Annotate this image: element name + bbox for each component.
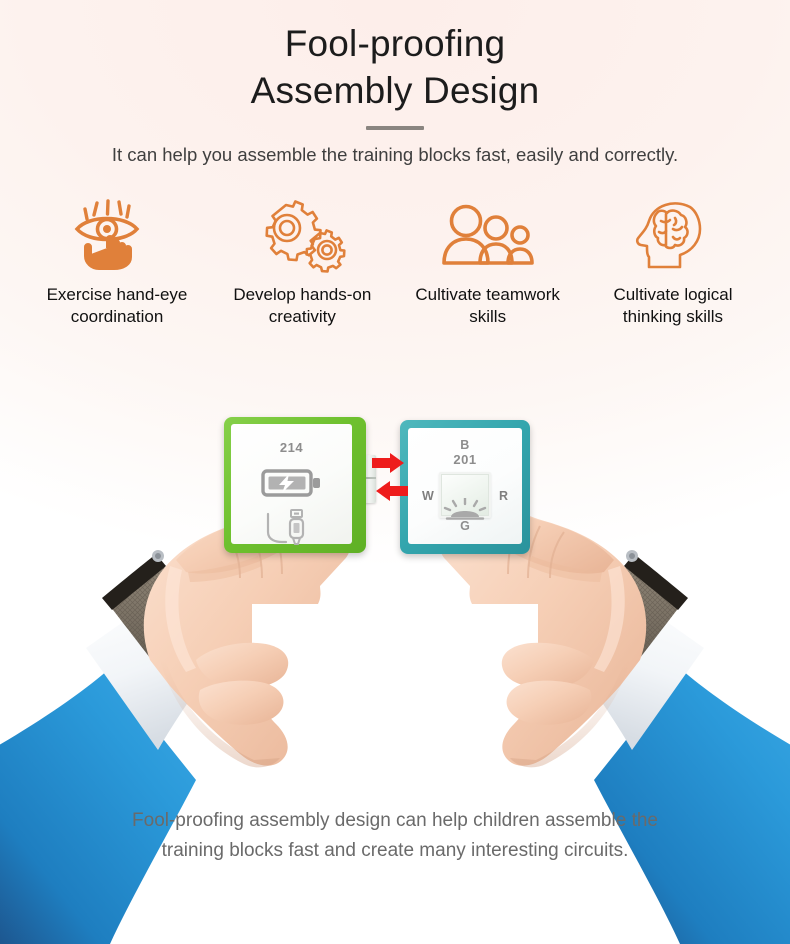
- led-block-code-number: 201: [408, 452, 522, 467]
- feature-label: Cultivate logical thinking skills: [582, 284, 764, 328]
- led-block-face: B 201 W R G: [408, 428, 522, 544]
- subtitle: It can help you assemble the training bl…: [0, 142, 790, 167]
- hands-illustration: [0, 360, 790, 820]
- led-block-label-bottom: G: [408, 519, 522, 533]
- left-arm: [0, 490, 350, 944]
- arrow-right-icon: [372, 453, 404, 473]
- feature-item-logical-thinking: Cultivate logical thinking skills: [582, 198, 764, 328]
- led-lamp-icon: [408, 498, 522, 520]
- usb-cable-icon: [231, 508, 352, 546]
- page-title: Fool-proofing Assembly Design: [0, 0, 790, 114]
- arrow-left-icon: [376, 481, 408, 501]
- led-block[interactable]: B 201 W R G: [400, 420, 530, 554]
- feature-item-hand-eye: Exercise hand-eye coordination: [26, 198, 208, 328]
- battery-block-code: 214: [231, 440, 352, 455]
- page-title-line-2: Assembly Design: [0, 67, 790, 114]
- battery-block[interactable]: 214: [224, 417, 366, 553]
- feature-list: Exercise hand-eye coordination Develop h…: [0, 198, 790, 328]
- eye-hand-icon: [26, 198, 208, 274]
- feature-label: Cultivate teamwork skills: [397, 284, 579, 328]
- brain-head-icon: [582, 198, 764, 274]
- feature-label: Exercise hand-eye coordination: [26, 284, 208, 328]
- right-watch-crown-inner: [629, 553, 635, 559]
- left-watch-crown-inner: [155, 553, 161, 559]
- page-title-line-1: Fool-proofing: [0, 20, 790, 67]
- gears-icon: [211, 198, 393, 274]
- header: Fool-proofing Assembly Design It can hel…: [0, 0, 790, 167]
- battery-charging-icon: [231, 467, 352, 499]
- people-icon: [397, 198, 579, 274]
- right-arm: [440, 490, 790, 944]
- footer-description: Fool-proofing assembly design can help c…: [0, 806, 790, 866]
- connection-arrows: [372, 452, 408, 509]
- feature-item-creativity: Develop hands-on creativity: [211, 198, 393, 328]
- led-block-code-letter: B: [408, 438, 522, 452]
- feature-label: Develop hands-on creativity: [211, 284, 393, 328]
- battery-block-face: 214: [231, 424, 352, 544]
- feature-item-teamwork: Cultivate teamwork skills: [397, 198, 579, 328]
- title-divider: [366, 126, 424, 130]
